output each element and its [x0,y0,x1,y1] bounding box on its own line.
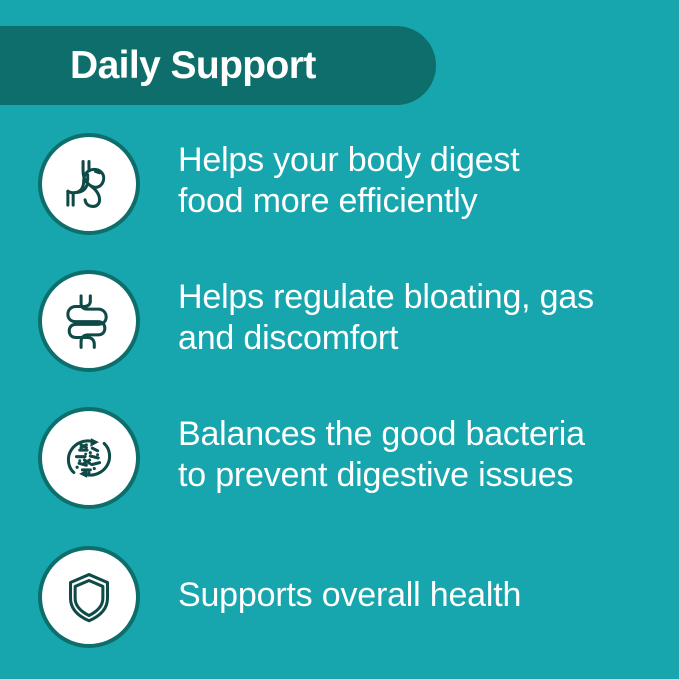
bacteria-cycle-icon [56,425,122,491]
header-banner: Daily Support [0,26,436,105]
benefit-text: Balances the good bacteria to prevent di… [178,414,585,496]
benefit-text: Supports overall health [178,575,521,616]
benefits-list: Helps your body digest food more efficie… [0,133,679,656]
benefit-line: Supports overall health [178,575,521,616]
list-item: Balances the good bacteria to prevent di… [0,407,679,546]
icon-badge [38,407,140,509]
benefit-line: food more efficiently [178,181,519,222]
benefit-text: Helps regulate bloating, gas and discomf… [178,277,594,359]
icon-badge [38,133,140,235]
list-item: Supports overall health [0,546,679,656]
benefit-text: Helps your body digest food more efficie… [178,140,519,222]
intestines-icon [56,288,122,354]
icon-badge [38,270,140,372]
icon-badge [38,546,140,648]
daily-support-infographic: Daily Support Helps your body digest [0,0,679,679]
benefit-line: Helps regulate bloating, gas [178,277,594,318]
page-title: Daily Support [70,46,316,85]
benefit-line: to prevent digestive issues [178,455,585,496]
stomach-icon [56,151,122,217]
benefit-line: Balances the good bacteria [178,414,585,455]
list-item: Helps regulate bloating, gas and discomf… [0,270,679,407]
shield-icon [56,564,122,630]
list-item: Helps your body digest food more efficie… [0,133,679,270]
benefit-line: Helps your body digest [178,140,519,181]
benefit-line: and discomfort [178,318,594,359]
